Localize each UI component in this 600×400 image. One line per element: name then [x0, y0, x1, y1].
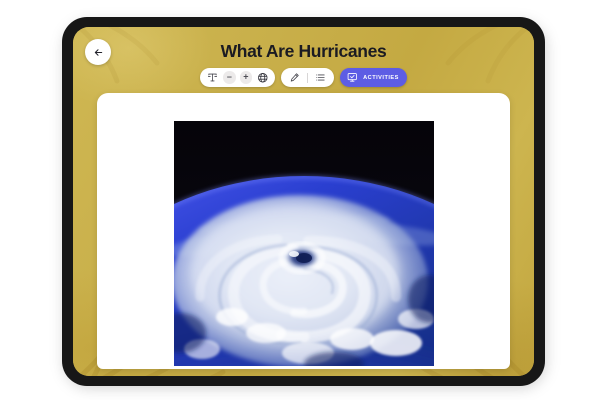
increase-symbol: + [243, 73, 248, 82]
monitor-check-icon [346, 71, 359, 84]
page-title: What Are Hurricanes [73, 41, 534, 62]
tablet-screen: What Are Hurricanes – [73, 27, 534, 376]
screenshot-root: What Are Hurricanes – [0, 0, 600, 400]
back-button[interactable] [85, 39, 111, 65]
text-controls-pill: – + [200, 68, 275, 87]
lesson-toolbar: – + [73, 68, 534, 87]
toolbar-divider [307, 73, 308, 83]
arrow-left-icon [93, 47, 104, 58]
list-lines-icon[interactable] [314, 71, 327, 84]
globe-icon[interactable] [256, 71, 269, 84]
activities-button[interactable]: ACTIVITIES [340, 68, 407, 87]
text-size-decrease-button[interactable]: – [223, 71, 236, 84]
decrease-symbol: – [227, 73, 232, 82]
tablet-device-frame: What Are Hurricanes – [62, 17, 545, 386]
lesson-content-card [97, 93, 510, 369]
text-format-icon[interactable] [206, 71, 219, 84]
hurricane-satellite-photo [174, 121, 434, 366]
hurricane-illustration [174, 121, 434, 366]
text-size-increase-button[interactable]: + [240, 71, 253, 84]
pen-highlighter-icon[interactable] [288, 71, 301, 84]
annotation-tools-pill [281, 68, 334, 87]
satellite-image-render [174, 121, 434, 366]
activities-button-label: ACTIVITIES [363, 75, 399, 81]
